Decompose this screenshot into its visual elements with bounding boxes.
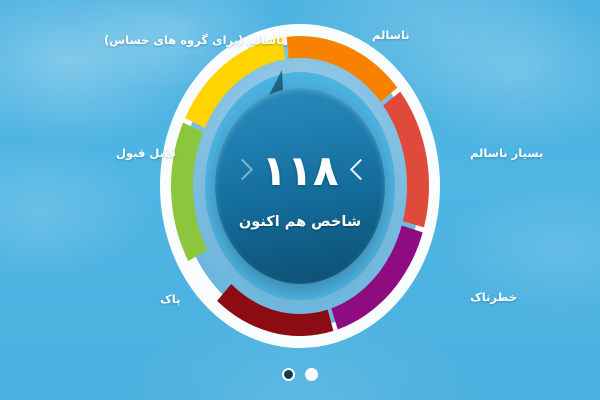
aqi-caption: شاخص هم اکنون xyxy=(239,214,361,230)
pagination-dots xyxy=(0,368,600,381)
segment-label-good: پاک xyxy=(160,292,180,306)
segment-label-unhealthy: ناسالم xyxy=(372,28,410,42)
value-row: ۱۱۸ xyxy=(215,150,385,192)
aqi-value: ۱۱۸ xyxy=(262,150,339,192)
aqi-gauge-widget: ۱۱۸ شاخص هم اکنون پاک قابل قبول ناسالم (… xyxy=(0,0,600,400)
next-arrow-icon[interactable] xyxy=(232,156,250,186)
gauge-center-dial: ۱۱۸ شاخص هم اکنون xyxy=(215,88,385,284)
segment-label-sensitive: ناسالم (برای گروه های حساس) xyxy=(104,33,285,47)
pagination-dot-2[interactable] xyxy=(282,368,295,381)
segment-label-very-unhealthy: بسیار ناسالم xyxy=(470,146,543,160)
previous-arrow-icon[interactable] xyxy=(350,156,368,186)
pagination-dot-1[interactable] xyxy=(305,368,318,381)
segment-label-hazardous: خطرناک xyxy=(470,290,517,304)
gauge-container: ۱۱۸ شاخص هم اکنون xyxy=(160,18,440,348)
segment-label-moderate: قابل قبول xyxy=(116,146,176,160)
